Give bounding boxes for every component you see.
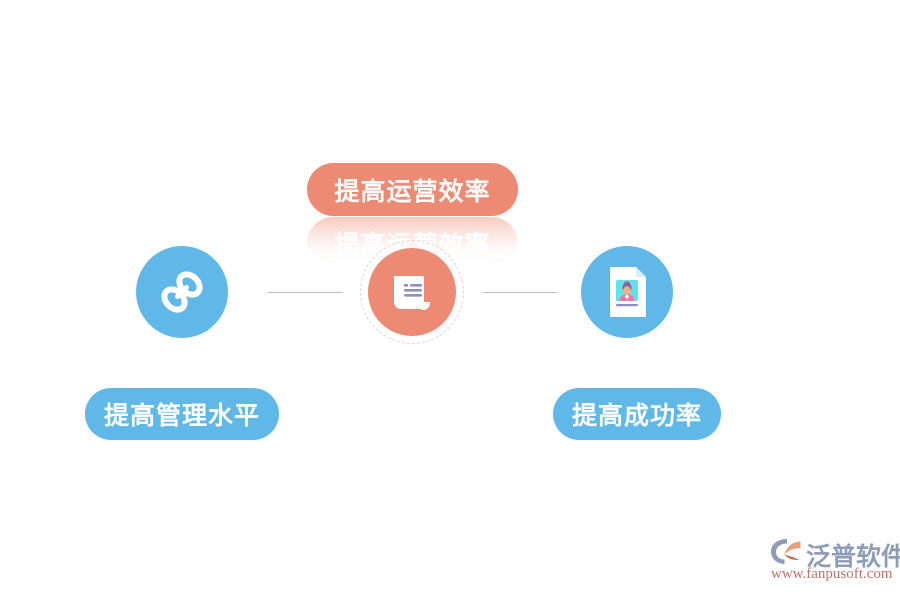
pill-top-label: 提高运营效率 <box>334 172 490 208</box>
pill-left-label: 提高管理水平 <box>104 396 260 432</box>
chain-link-icon <box>154 264 210 320</box>
watermark-url-text: www.fanpusoft.com <box>771 566 893 583</box>
connector-center-to-right <box>483 292 557 293</box>
pill-improve-operational-efficiency[interactable]: 提高运营效率 <box>307 163 518 216</box>
pill-right-label: 提高成功率 <box>572 396 702 432</box>
scroll-document-icon <box>386 266 438 318</box>
pill-improve-management-level[interactable]: 提高管理水平 <box>85 388 279 440</box>
node-circle-left[interactable] <box>136 246 228 338</box>
node-circle-right[interactable] <box>581 246 673 338</box>
watermark: 泛普软件 www.fanpusoft.com <box>770 537 892 587</box>
id-card-document-icon <box>602 263 652 321</box>
node-circle-center[interactable] <box>368 248 456 336</box>
connector-left-to-center <box>268 292 343 293</box>
fanpu-c-swoosh-logo-icon <box>770 538 804 565</box>
diagram-canvas: 提高运营效率 提高运营效率 <box>0 0 900 600</box>
pill-improve-success-rate[interactable]: 提高成功率 <box>553 388 721 440</box>
